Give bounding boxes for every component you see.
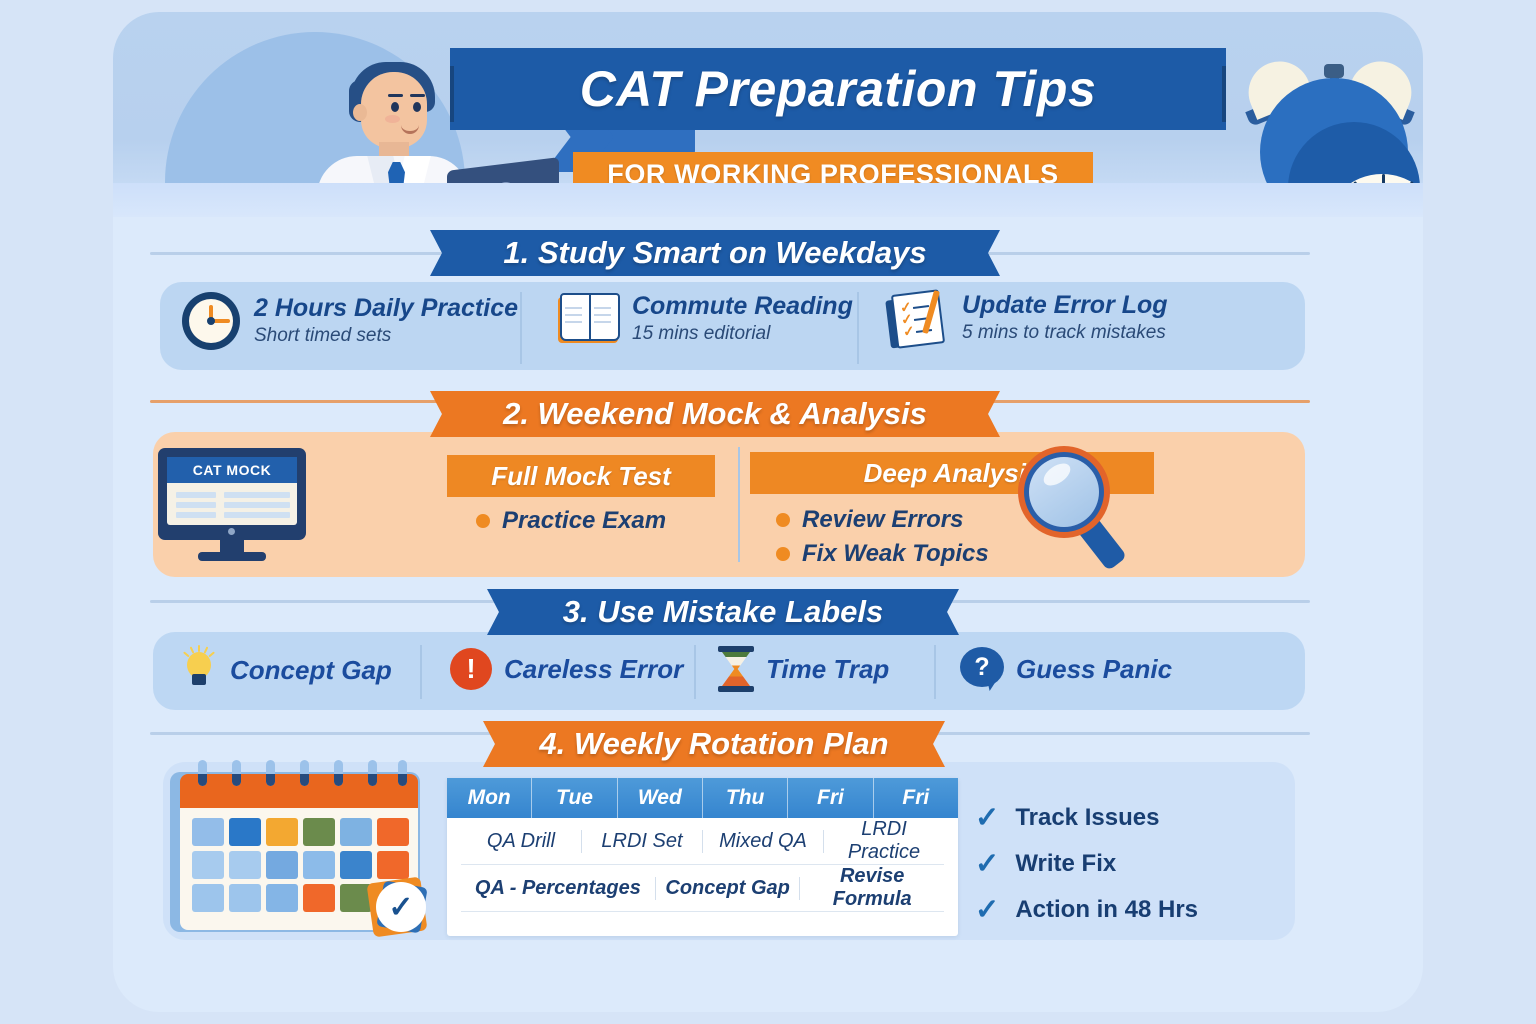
table-cell: LRDI Set bbox=[582, 830, 703, 853]
table-cell: Mixed QA bbox=[703, 830, 824, 853]
checklist-item-action-48hrs: ✓ Action in 48 Hrs bbox=[975, 887, 1255, 933]
book-line bbox=[565, 321, 582, 323]
calendar-cell bbox=[340, 818, 372, 846]
table-col-tue: Tue bbox=[532, 778, 617, 818]
magnifying-glass-icon bbox=[1012, 446, 1147, 566]
checklist-item-write-fix: ✓ Write Fix bbox=[975, 841, 1255, 887]
calendar-ring bbox=[300, 760, 309, 786]
section-3-title: 3. Use Mistake Labels bbox=[563, 594, 884, 630]
book-line bbox=[594, 321, 611, 323]
person-ear bbox=[353, 104, 367, 121]
table-row: QA Drill LRDI Set Mixed QA LRDI Practice bbox=[461, 818, 944, 865]
question-mark: ? bbox=[960, 647, 1004, 687]
section-1-item-reading: Commute Reading 15 mins editorial bbox=[558, 292, 853, 346]
table-col-thu: Thu bbox=[703, 778, 788, 818]
mistake-label-text: Time Trap bbox=[766, 654, 889, 685]
cat-mock-label: CAT MOCK bbox=[167, 457, 297, 483]
calendar-cell bbox=[340, 851, 372, 879]
checklist-item-track-issues: ✓ Track Issues bbox=[975, 795, 1255, 841]
section-1-ribbon: 1. Study Smart on Weekdays bbox=[455, 230, 975, 276]
person-eye-left bbox=[391, 102, 399, 112]
calendar-ring bbox=[334, 760, 343, 786]
mistake-label-careless-error: ! Careless Error bbox=[450, 648, 683, 690]
section-1-item-practice: 2 Hours Daily Practice Short timed sets bbox=[182, 292, 518, 350]
table-cell: LRDI Practice bbox=[824, 818, 944, 864]
book-line bbox=[594, 314, 611, 316]
divider-right-4 bbox=[920, 732, 1310, 735]
divider-right-3 bbox=[930, 600, 1310, 603]
person-brow-left bbox=[388, 94, 403, 97]
monitor-row bbox=[176, 502, 216, 508]
table-cell: QA Drill bbox=[461, 830, 582, 853]
calendar-cell bbox=[229, 818, 261, 846]
table-col-fri: Fri bbox=[788, 778, 873, 818]
calendar-cell bbox=[303, 818, 335, 846]
log-check: ✓ bbox=[902, 322, 916, 340]
person-cheek bbox=[385, 115, 400, 123]
divider-left-3 bbox=[150, 600, 510, 603]
divider-left-1 bbox=[150, 252, 480, 255]
calendar-cell bbox=[192, 818, 224, 846]
calendar-cell bbox=[192, 884, 224, 912]
calendar-cell bbox=[229, 851, 261, 879]
bullet-dot bbox=[776, 547, 790, 561]
section-1-item-errorlog: ✓ ✓ ✓ Update Error Log 5 mins to track m… bbox=[888, 290, 1168, 346]
divider-right-2 bbox=[975, 400, 1310, 403]
infographic-canvas: CAT Preparation Tips FOR WORKING PROFESS… bbox=[0, 0, 1536, 1024]
cat-mock-monitor-icon: CAT MOCK bbox=[158, 448, 306, 563]
section-1-divider-1 bbox=[520, 292, 522, 364]
section-2-divider bbox=[738, 447, 740, 562]
person-eye-right bbox=[413, 102, 421, 112]
item-title: Commute Reading bbox=[632, 292, 853, 321]
checklist-text: Write Fix bbox=[1015, 850, 1116, 878]
monitor-row bbox=[176, 492, 216, 498]
calendar-cell bbox=[303, 851, 335, 879]
mistake-label-text: Guess Panic bbox=[1016, 654, 1172, 685]
mistake-label-concept-gap: Concept Gap bbox=[178, 648, 392, 692]
section-2-ribbon: 2. Weekend Mock & Analysis bbox=[455, 391, 975, 437]
calendar-cell bbox=[377, 818, 409, 846]
lightbulb-icon bbox=[178, 648, 218, 692]
book-page-right bbox=[589, 293, 620, 341]
section-2-title: 2. Weekend Mock & Analysis bbox=[503, 396, 927, 432]
book-line bbox=[594, 307, 611, 309]
error-log-icon: ✓ ✓ ✓ bbox=[888, 290, 948, 346]
open-book-icon bbox=[558, 293, 618, 345]
table-row: QA - Percentages Concept Gap Revise Form… bbox=[461, 865, 944, 912]
calendar-ring bbox=[198, 760, 207, 786]
clock-icon-pin bbox=[207, 317, 215, 325]
monitor-row bbox=[224, 492, 290, 498]
section-1-item-text: 2 Hours Daily Practice Short timed sets bbox=[254, 294, 518, 348]
section-1-title: 1. Study Smart on Weekdays bbox=[503, 235, 926, 271]
item-subtitle: 15 mins editorial bbox=[632, 321, 853, 347]
section-4-title: 4. Weekly Rotation Plan bbox=[539, 726, 888, 762]
calendar-cell bbox=[266, 884, 298, 912]
monitor-foot bbox=[198, 552, 266, 561]
mistake-label-text: Concept Gap bbox=[230, 655, 392, 686]
question-bubble-icon: ? bbox=[960, 647, 1004, 691]
person-brow-right bbox=[410, 94, 425, 97]
bulb-base bbox=[192, 674, 206, 685]
monitor-row bbox=[224, 512, 290, 518]
section-3-divider-1 bbox=[420, 645, 422, 699]
table-col-mon: Mon bbox=[447, 778, 532, 818]
hourglass-icon bbox=[718, 646, 754, 692]
checklist-text: Track Issues bbox=[1015, 804, 1159, 832]
checklist-text: Action in 48 Hrs bbox=[1015, 896, 1198, 924]
check-icon: ✓ bbox=[975, 804, 999, 833]
calendar-check-icon: ✓ bbox=[376, 882, 426, 932]
check-icon: ✓ bbox=[975, 850, 999, 879]
book-line bbox=[565, 307, 582, 309]
table-cell: Concept Gap bbox=[656, 877, 801, 900]
monitor-row bbox=[176, 512, 216, 518]
calendar-cell bbox=[266, 818, 298, 846]
section-3-divider-3 bbox=[934, 645, 936, 699]
section-4-checklist: ✓ Track Issues ✓ Write Fix ✓ Action in 4… bbox=[975, 795, 1255, 933]
calendar-ring bbox=[266, 760, 275, 786]
bullet-dot bbox=[776, 513, 790, 527]
section-2-right-bullet-1: Fix Weak Topics bbox=[776, 540, 989, 568]
calendar-cell bbox=[266, 851, 298, 879]
weekly-rotation-table: Mon Tue Wed Thu Fri Fri QA Drill LRDI Se… bbox=[447, 778, 958, 936]
bulb-ray bbox=[198, 645, 200, 652]
full-mock-test-label: Full Mock Test bbox=[491, 461, 671, 492]
mistake-label-text: Careless Error bbox=[504, 654, 683, 685]
main-title-ribbon: CAT Preparation Tips bbox=[450, 48, 1226, 130]
hourglass-cap-bottom bbox=[718, 686, 754, 692]
divider-left-2 bbox=[150, 400, 480, 403]
calendar-cell bbox=[303, 884, 335, 912]
bullet-dot bbox=[476, 514, 490, 528]
bullet-text: Fix Weak Topics bbox=[802, 540, 989, 568]
calendar-icon: ✓ bbox=[170, 758, 428, 936]
table-col-fri2: Fri bbox=[874, 778, 958, 818]
item-title: Update Error Log bbox=[962, 291, 1168, 320]
monitor-power-dot bbox=[228, 528, 235, 535]
calendar-ring bbox=[398, 760, 407, 786]
calendar-cell bbox=[229, 884, 261, 912]
calendar-ring bbox=[368, 760, 377, 786]
item-subtitle: Short timed sets bbox=[254, 323, 518, 349]
desk-surface bbox=[113, 183, 1423, 217]
table-col-wed: Wed bbox=[618, 778, 703, 818]
section-1-item-text: Commute Reading 15 mins editorial bbox=[632, 292, 853, 346]
bullet-text: Review Errors bbox=[802, 506, 963, 534]
table-header-row: Mon Tue Wed Thu Fri Fri bbox=[447, 778, 958, 818]
calendar-ring bbox=[232, 760, 241, 786]
book-page-left bbox=[560, 293, 591, 341]
exclamation-circle-icon: ! bbox=[450, 648, 492, 690]
page-title: CAT Preparation Tips bbox=[580, 60, 1097, 118]
hourglass-cap-top bbox=[718, 646, 754, 652]
divider-left-4 bbox=[150, 732, 505, 735]
section-2-right-bullet-0: Review Errors bbox=[776, 506, 963, 534]
mistake-label-guess-panic: ? Guess Panic bbox=[960, 647, 1172, 691]
bulb-ray bbox=[208, 651, 215, 657]
monitor-row bbox=[224, 502, 290, 508]
section-3-divider-2 bbox=[694, 645, 696, 699]
monitor-screen-banner: CAT MOCK bbox=[167, 457, 297, 483]
section-1-divider-2 bbox=[857, 292, 859, 364]
mistake-label-time-trap: Time Trap bbox=[718, 646, 889, 692]
header-banner: CAT Preparation Tips FOR WORKING PROFESS… bbox=[113, 12, 1423, 217]
table-cell: QA - Percentages bbox=[461, 877, 656, 900]
check-icon: ✓ bbox=[975, 896, 999, 925]
section-2-left-banner: Full Mock Test bbox=[447, 455, 715, 497]
section-4-ribbon: 4. Weekly Rotation Plan bbox=[508, 721, 920, 767]
section-1-item-text: Update Error Log 5 mins to track mistake… bbox=[962, 291, 1168, 345]
calendar-header-band bbox=[180, 774, 418, 808]
hourglass-sand bbox=[722, 652, 750, 686]
book-line bbox=[565, 314, 582, 316]
clock-icon bbox=[182, 292, 240, 350]
section-3-ribbon: 3. Use Mistake Labels bbox=[512, 589, 934, 635]
bullet-text: Practice Exam bbox=[502, 507, 666, 535]
item-title: 2 Hours Daily Practice bbox=[254, 294, 518, 323]
section-2-left-bullet-0: Practice Exam bbox=[476, 507, 666, 535]
calendar-cell bbox=[377, 851, 409, 879]
item-subtitle: 5 mins to track mistakes bbox=[962, 320, 1168, 346]
calendar-cell bbox=[192, 851, 224, 879]
divider-right-1 bbox=[975, 252, 1310, 255]
table-cell: Revise Formula bbox=[800, 865, 944, 911]
